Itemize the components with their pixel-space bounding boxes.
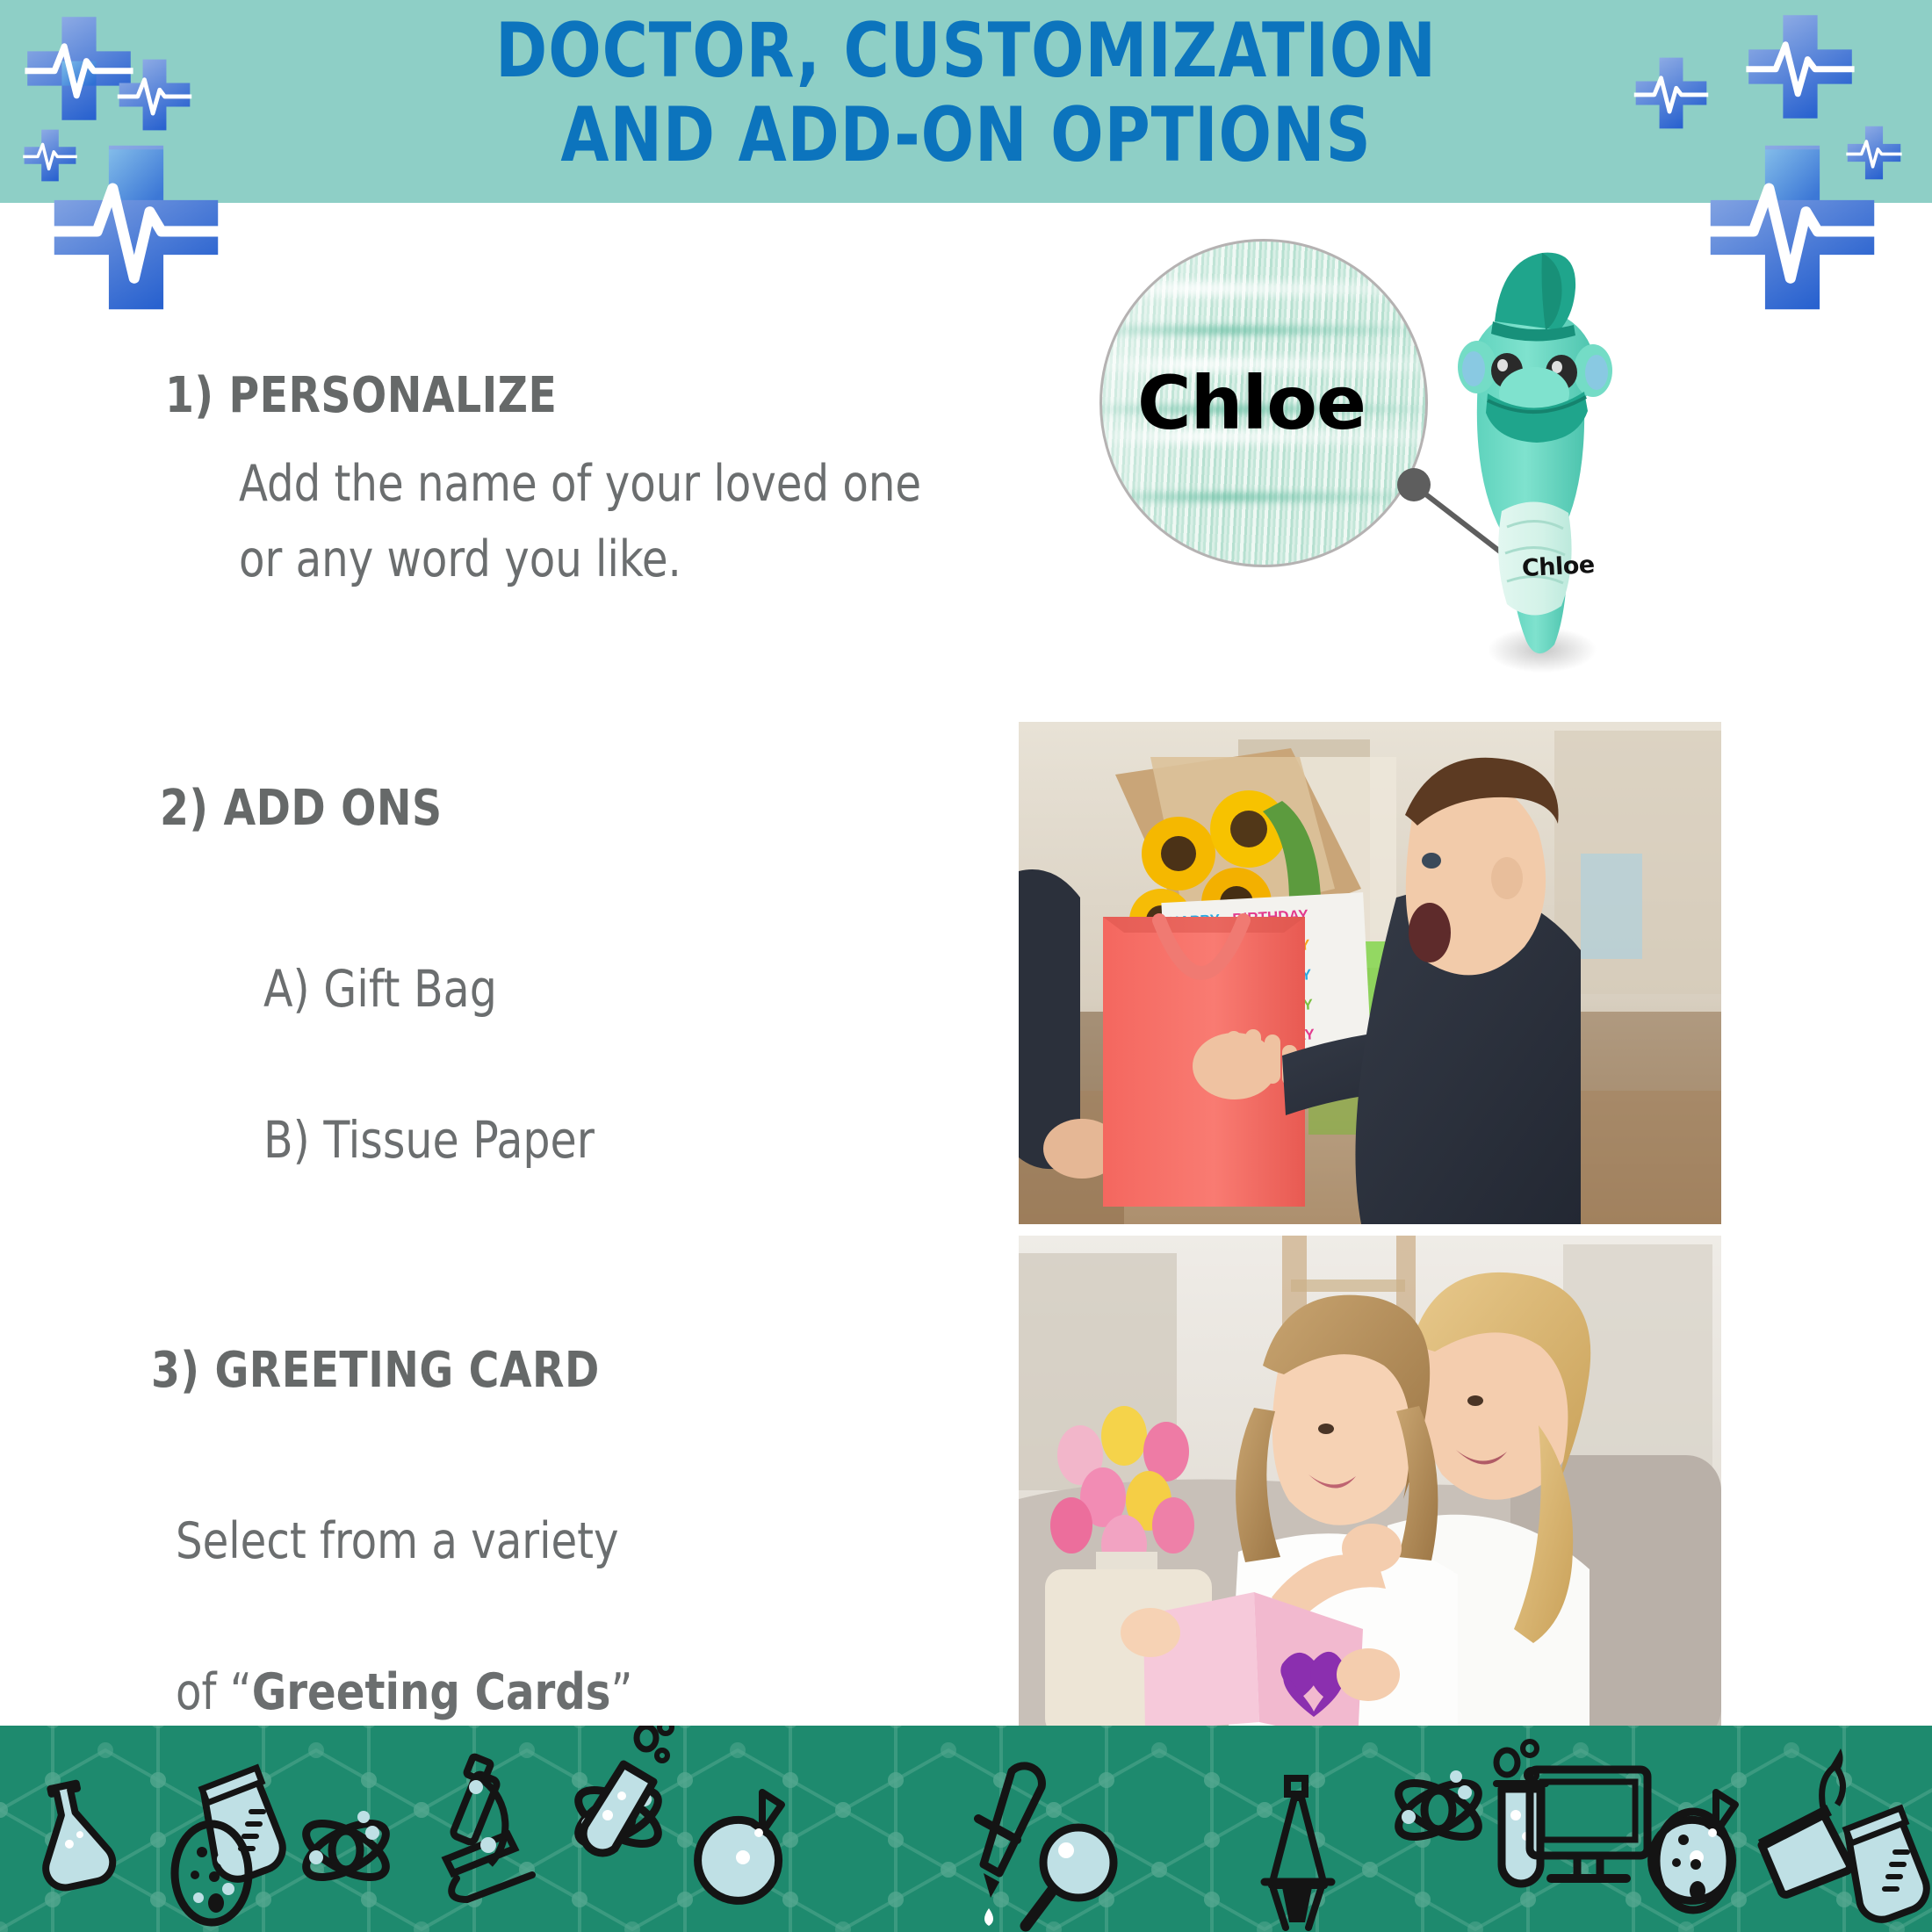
atom-icon bbox=[1391, 1770, 1487, 1848]
bunsen-burner-icon bbox=[1265, 1778, 1331, 1928]
step-2-add-ons: 2) ADD ONS A) Gift Bag B) Tissue Paper bbox=[0, 782, 984, 1168]
step-2-heading: 2) ADD ONS bbox=[160, 782, 934, 836]
step-1-body: Add the name of your loved one or any wo… bbox=[239, 446, 939, 597]
atom-icon bbox=[299, 1811, 394, 1888]
step-3-body: Select from a variety of “Greeting Cards… bbox=[176, 1428, 935, 1730]
step-1-personalize: 1) PERSONALIZE Add the name of your love… bbox=[0, 369, 984, 597]
greeting-card-photo bbox=[1019, 1236, 1721, 1743]
add-on-option-gift-bag: A) Gift Bag bbox=[263, 961, 941, 1017]
step-3-heading: 3) GREETING CARD bbox=[151, 1344, 934, 1398]
zoom-circle-name: Chloe bbox=[1102, 241, 1425, 565]
add-on-option-tissue-paper: B) Tissue Paper bbox=[263, 1112, 941, 1168]
step-1-heading: 1) PERSONALIZE bbox=[165, 369, 934, 423]
personalization-zoom-circle: Chloe bbox=[1099, 239, 1428, 567]
magnifier-icon bbox=[1026, 1827, 1114, 1926]
step-3-body-line2-after: ” bbox=[611, 1663, 633, 1721]
gift-bag-photo: HAPPYBIRTHDAY HAPPYBIRTHDAY HAPPYBIRTHDA… bbox=[1019, 722, 1721, 1224]
bunsen-burner-icon bbox=[1758, 1748, 1849, 1894]
plush-toy-doctor-seahorse bbox=[1430, 237, 1649, 694]
step-3-greeting-card: 3) GREETING CARD Select from a variety o… bbox=[0, 1344, 984, 1730]
dropper-icon bbox=[978, 1766, 1042, 1926]
footer-science-band bbox=[0, 1726, 1932, 1932]
step-3-body-line1: Select from a variety bbox=[176, 1512, 619, 1570]
step-3-body-line2-bold: Greeting Cards bbox=[252, 1663, 611, 1721]
science-icon-row bbox=[0, 1726, 1932, 1932]
microscope-icon bbox=[446, 1756, 532, 1900]
plush-name-embroidery: Chloe bbox=[1521, 551, 1595, 582]
beaker-icon bbox=[1846, 1808, 1927, 1920]
page-title: DOCTOR, CUSTOMIZATION AND ADD-ON OPTIONS bbox=[77, 9, 1855, 177]
round-flask-icon bbox=[698, 1792, 782, 1900]
erlenmeyer-flask-icon bbox=[30, 1779, 117, 1891]
step-3-body-line2-before: of “ bbox=[176, 1663, 252, 1721]
test-tube-icon bbox=[1496, 1741, 1546, 1884]
